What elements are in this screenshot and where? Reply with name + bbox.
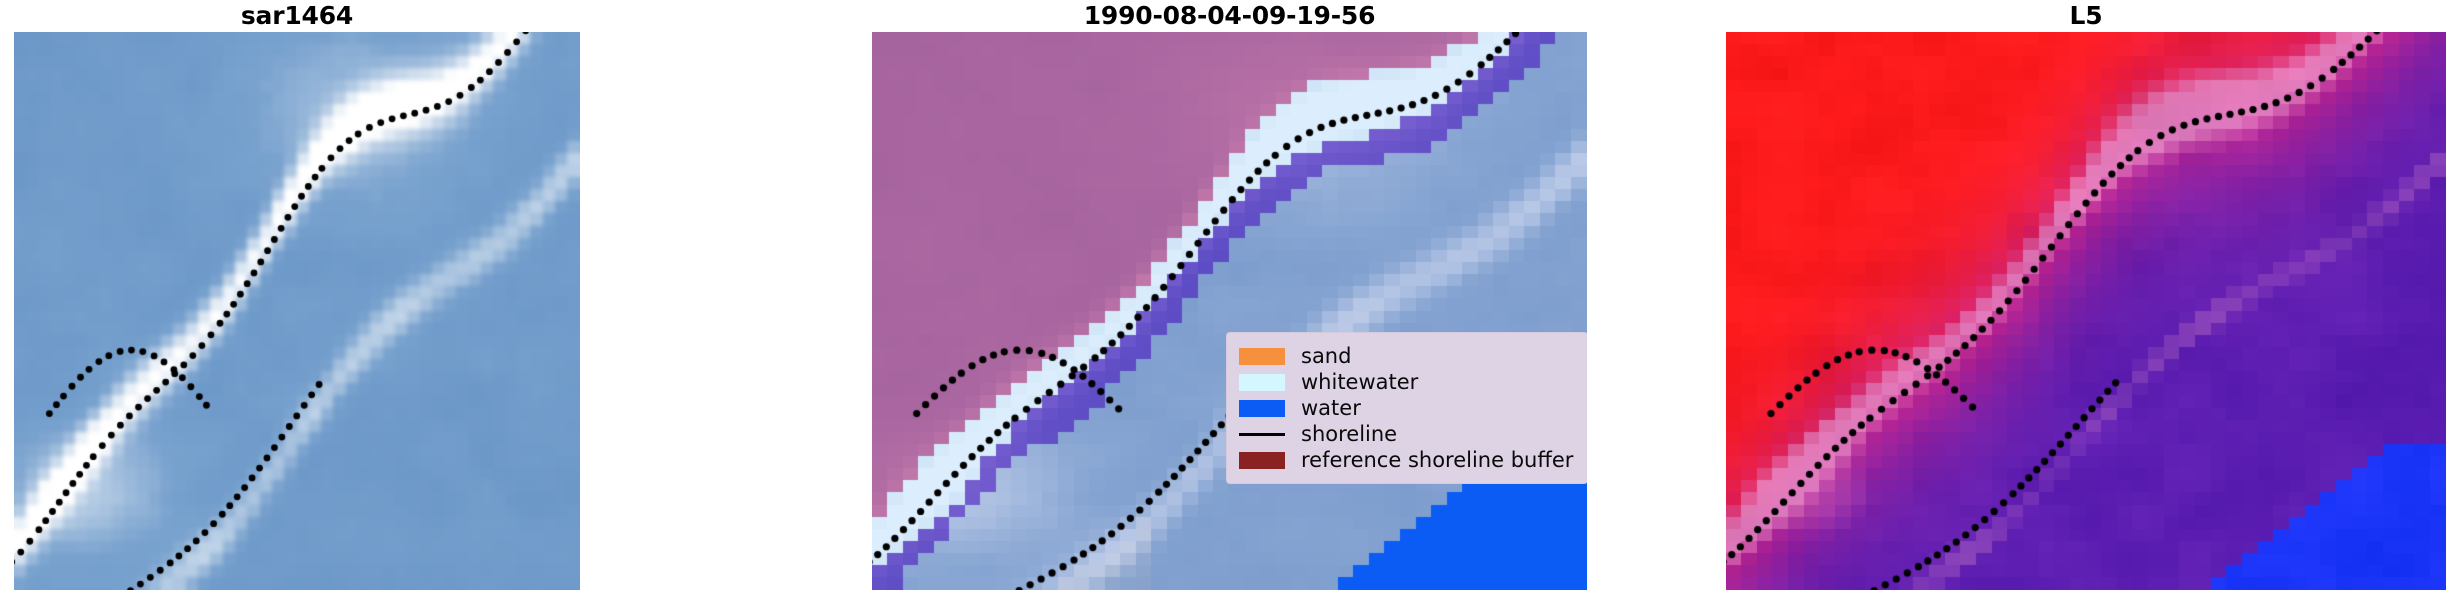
legend-item-shoreline[interactable]: shoreline (1239, 421, 1573, 447)
panel-sar (14, 32, 580, 590)
legend-swatch-sand-wrap (1239, 348, 1301, 365)
legend: sand whitewater water shoreline (1226, 332, 1587, 484)
legend-swatch-whitewater-wrap (1239, 374, 1301, 391)
panel-l5 (1726, 32, 2446, 590)
panel-title-sar: sar1464 (14, 2, 580, 30)
reference-shoreline-buffer-swatch-icon (1239, 452, 1285, 469)
legend-item-reference-shoreline-buffer[interactable]: reference shoreline buffer (1239, 447, 1573, 473)
figure-canvas: sar1464 sand whitewater water (0, 0, 2460, 604)
legend-item-sand[interactable]: sand (1239, 343, 1573, 369)
legend-label-whitewater: whitewater (1301, 370, 1418, 394)
legend-label-shoreline: shoreline (1301, 422, 1397, 446)
legend-item-whitewater[interactable]: whitewater (1239, 369, 1573, 395)
legend-swatch-reference-buffer-wrap (1239, 452, 1301, 469)
legend-swatch-water-wrap (1239, 400, 1301, 417)
whitewater-swatch-icon (1239, 374, 1285, 391)
legend-label-water: water (1301, 396, 1361, 420)
legend-item-water[interactable]: water (1239, 395, 1573, 421)
l5-image (1726, 32, 2446, 590)
classified-image (872, 32, 1587, 590)
water-swatch-icon (1239, 400, 1285, 417)
sar-image (14, 32, 580, 590)
panel-title-classified: 1990-08-04-09-19-56 (872, 2, 1587, 30)
legend-label-reference-shoreline-buffer: reference shoreline buffer (1301, 448, 1573, 472)
legend-label-sand: sand (1301, 344, 1351, 368)
shoreline-line-icon (1239, 433, 1285, 436)
sand-swatch-icon (1239, 348, 1285, 365)
panel-classified: sand whitewater water shoreline (872, 32, 1587, 590)
panel-title-l5: L5 (1726, 2, 2446, 30)
legend-swatch-shoreline-wrap (1239, 433, 1301, 436)
